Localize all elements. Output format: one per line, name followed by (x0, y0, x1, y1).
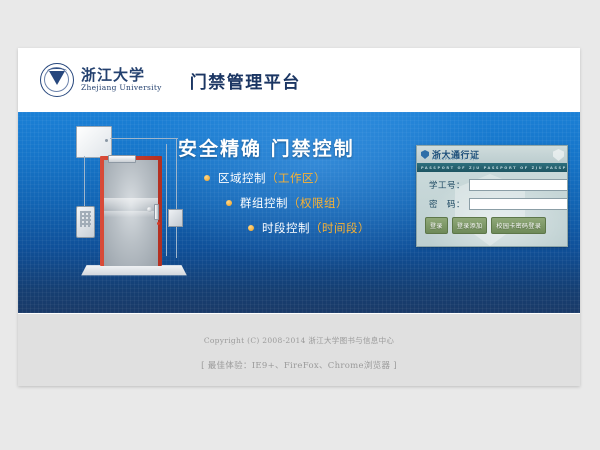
door-knob-icon (147, 207, 152, 212)
floor-plate (81, 265, 187, 275)
university-name-cn: 浙江大学 (81, 68, 162, 84)
wire-to-reader-inner (166, 144, 167, 256)
feature-item-area-control: 区域控制（工作区） (204, 170, 370, 186)
emblem-inner-ring (44, 67, 69, 92)
login-panel-header: 浙大通行证 PASSPORT OF ZJU (417, 146, 567, 163)
site-header: 浙江大学 Zhejiang University 门禁管理平台 (18, 48, 580, 112)
feature-item-time-control: 时段控制（时间段） (248, 220, 370, 236)
password-label: 密 码： (423, 198, 469, 210)
bullet-dot-icon (226, 200, 232, 206)
wire-to-reader-outer (176, 138, 177, 258)
student-staff-id-label: 学工号： (423, 179, 469, 191)
door-frame (100, 156, 162, 266)
bullet-dot-icon (204, 175, 210, 181)
university-name-en: Zhejiang University (81, 84, 162, 92)
feature-label: 群组控制（权限组） (240, 195, 348, 211)
door-status-led (157, 222, 160, 225)
login-form: 学工号： 密 码： 登录 登录添加 校园卡密码登录 (417, 172, 567, 246)
wire-top-horizontal (110, 138, 178, 139)
door-handle-icon (154, 204, 159, 220)
door-closer-icon (108, 155, 136, 163)
door-panel (104, 160, 158, 266)
site-footer: Copyright (C) 2008-2014 浙江大学图书与信息中心 [ 最佳… (18, 313, 580, 386)
zju-emblem-icon (40, 63, 74, 97)
hero-banner: 安全精确 门禁控制 区域控制（工作区） 群组控制（权限组） 时段控制（时间段） … (18, 112, 580, 313)
copyright-text: Copyright (C) 2008-2014 浙江大学图书与信息中心 (18, 335, 580, 346)
feature-item-group-control: 群组控制（权限组） (226, 195, 370, 211)
bullet-dot-icon (248, 225, 254, 231)
password-input[interactable] (469, 198, 568, 210)
page-container: 浙江大学 Zhejiang University 门禁管理平台 (18, 48, 580, 386)
login-add-button[interactable]: 登录添加 (452, 217, 488, 234)
university-logo[interactable]: 浙江大学 Zhejiang University (40, 63, 162, 97)
keypad-reader-icon (76, 206, 95, 238)
corner-shield-icon (553, 149, 564, 161)
university-names: 浙江大学 Zhejiang University (81, 68, 162, 93)
browser-recommendation-text: [ 最佳体验：IE9+、FireFox、Chrome浏览器 ] (18, 359, 580, 371)
login-panel-title-en: PASSPORT OF ZJU (432, 157, 479, 161)
login-button-row: 登录 登录添加 校园卡密码登录 (423, 217, 561, 234)
feature-label: 时段控制（时间段） (262, 220, 370, 236)
feature-list: 区域控制（工作区） 群组控制（权限组） 时段控制（时间段） (204, 170, 370, 245)
shield-icon (421, 150, 429, 159)
wire-to-keypad (84, 156, 85, 208)
passport-strip-text: PASSPORT OF ZJU PASSPORT OF ZJU PASSPORT… (417, 166, 567, 170)
feature-label: 区域控制（工作区） (218, 170, 326, 186)
campus-card-password-login-button[interactable]: 校园卡密码登录 (491, 217, 546, 234)
controller-box-icon (76, 126, 112, 158)
card-reader-icon (168, 209, 183, 227)
passport-watermark-strip: PASSPORT OF ZJU PASSPORT OF ZJU PASSPORT… (417, 163, 567, 172)
field-row-password: 密 码： (423, 198, 561, 210)
field-row-id: 学工号： (423, 179, 561, 191)
student-staff-id-input[interactable] (469, 179, 568, 191)
page-title: 门禁管理平台 (190, 68, 301, 93)
login-button[interactable]: 登录 (425, 217, 448, 234)
login-panel: 浙大通行证 PASSPORT OF ZJU PASSPORT OF ZJU PA… (416, 145, 568, 247)
banner-slogan: 安全精确 门禁控制 (178, 134, 355, 161)
